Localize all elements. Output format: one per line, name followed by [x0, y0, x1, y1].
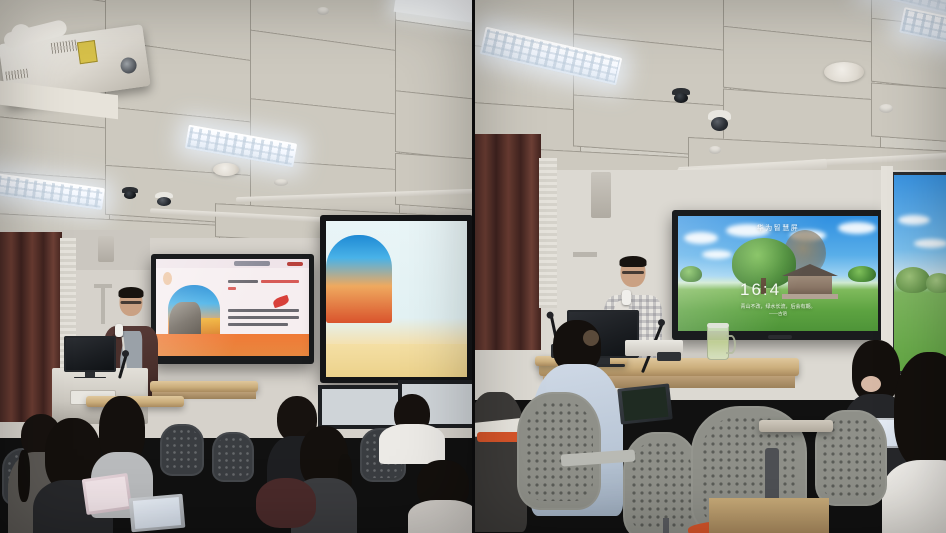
mic-capsule — [546, 311, 554, 319]
main-display-screen[interactable]: 华为智慧屏 16:4 青山不改，绿水长流，后会有期。 ——古语 — [678, 216, 878, 331]
smoke-detector-2 — [709, 146, 721, 154]
ceiling-speaker — [213, 163, 239, 176]
camera-lens — [674, 93, 688, 103]
audience-laptop[interactable] — [617, 383, 672, 424]
laptop-screen[interactable] — [621, 387, 669, 422]
ceiling-speaker — [824, 62, 864, 82]
dome-camera-1 — [122, 187, 138, 199]
smoke-detector-1 — [879, 104, 893, 113]
student-desk-row1 — [150, 381, 258, 392]
chair-mesh — [630, 441, 692, 532]
chair-mesh — [525, 401, 594, 500]
laptop-screen[interactable] — [133, 497, 182, 530]
audience-member — [380, 394, 444, 454]
monitor-screen[interactable] — [64, 336, 116, 372]
floor-riser — [709, 498, 829, 533]
cloud — [898, 215, 930, 225]
screensaver-caption-line-1: 青山不改，绿水长流，后会有期。 — [678, 303, 878, 310]
projection-screen-surface[interactable] — [326, 221, 467, 377]
left-photo-panel — [0, 0, 473, 533]
presenter-glasses — [622, 271, 644, 274]
dome-camera-2 — [155, 192, 173, 206]
cloud — [914, 239, 946, 248]
presenter-glasses — [121, 301, 142, 304]
display-ir-bar — [768, 335, 792, 339]
screensaver-caption-line-2: ——古语 — [678, 311, 878, 317]
camera-lens — [157, 197, 171, 206]
slide-content — [156, 259, 309, 356]
audience-chair[interactable] — [212, 432, 254, 482]
slide-bottom-band — [156, 334, 309, 356]
person-torso — [408, 500, 473, 533]
audience-chair[interactable] — [623, 432, 699, 533]
projection-screen-frame — [320, 215, 473, 383]
slide-body-line-1 — [228, 309, 299, 312]
control-panel-device[interactable] — [657, 352, 681, 361]
podium-monitor — [64, 336, 116, 372]
slide-title-chip — [234, 261, 270, 266]
slide-headline — [228, 280, 258, 283]
glass-tea-mug — [707, 326, 729, 360]
smoke-detector-1 — [274, 179, 288, 186]
background-tree — [848, 266, 876, 282]
presenter-hair — [620, 256, 647, 267]
smoke-detector-2 — [317, 7, 329, 15]
screensaver-wallpaper: 华为智慧屏 16:4 青山不改，绿水长流，后会有期。 ——古语 — [678, 216, 878, 331]
wall-speaker — [98, 236, 114, 262]
dome-camera-1 — [672, 88, 690, 103]
background-tree — [680, 266, 702, 282]
wall-display-frame — [151, 254, 314, 364]
audience-member — [410, 460, 473, 533]
person-ponytail — [18, 450, 30, 502]
dome-camera-2 — [708, 110, 731, 131]
camera-lens — [124, 191, 136, 199]
handheld-microphone[interactable] — [622, 290, 631, 305]
window-curtain-right — [473, 134, 541, 350]
slide-keywords-wrap — [228, 287, 236, 290]
handheld-microphone[interactable] — [115, 324, 123, 337]
slide-keywords — [261, 280, 299, 283]
person-hair — [256, 478, 316, 528]
person-torso — [379, 424, 445, 464]
projected-body-line-3 — [326, 338, 371, 342]
slide-body-line-2 — [228, 316, 299, 319]
hair-clip — [583, 330, 599, 346]
cabin-path — [782, 294, 838, 299]
chair-gas-lift — [663, 518, 669, 533]
audience-chair[interactable] — [160, 424, 204, 476]
cloud — [702, 250, 732, 259]
projector-warning-label — [77, 40, 98, 64]
camera-lens — [711, 117, 728, 131]
right-photo-panel: 华为智慧屏 16:4 青山不改，绿水长流，后会有期。 ——古语 — [473, 0, 946, 533]
window-blind — [539, 158, 557, 308]
wooden-cabin — [788, 274, 832, 296]
mug-lid — [707, 323, 729, 328]
wall-display-screen[interactable] — [156, 259, 309, 356]
cloud — [684, 232, 718, 244]
audience-member — [885, 352, 946, 533]
person-torso — [882, 460, 946, 533]
mug-handle — [726, 335, 736, 354]
audience-chair[interactable] — [517, 392, 601, 510]
wall-bracket — [573, 252, 597, 257]
projected-slide — [326, 221, 467, 377]
slide-logo-chip — [287, 262, 303, 266]
projected-bottom-band — [326, 344, 467, 377]
slide-body-line-3 — [228, 323, 288, 326]
tablet-desk-surface — [759, 420, 833, 432]
outdoor-tree — [926, 273, 946, 293]
hair-scrunchie — [861, 376, 881, 392]
projected-arch-image — [326, 235, 392, 323]
audience-laptop[interactable] — [129, 494, 186, 533]
screensaver-clock: 16:4 — [740, 280, 781, 300]
slide-decor-blob — [163, 272, 172, 285]
display-top-label: 华为智慧屏 — [678, 223, 878, 233]
audience-member — [250, 478, 322, 533]
person-hair — [894, 352, 946, 470]
main-display-frame: 华为智慧屏 16:4 青山不改，绿水长流，后会有期。 ——古语 — [672, 210, 884, 340]
wall-bracket-post — [101, 284, 105, 324]
stone-lion — [326, 277, 368, 323]
panel-divider — [472, 0, 475, 533]
presenter-hair — [119, 287, 144, 298]
tablet-screen[interactable] — [85, 476, 128, 511]
outdoor-tree — [896, 267, 930, 293]
audience-tablet[interactable] — [82, 473, 133, 515]
slide-ribbon-decor — [272, 295, 290, 309]
wall-speaker — [591, 172, 611, 218]
palace-roof — [326, 235, 376, 277]
projected-decor-blob — [326, 221, 336, 235]
photo-composite: 华为智慧屏 16:4 青山不改，绿水长流，后会有期。 ——古语 — [0, 0, 946, 533]
